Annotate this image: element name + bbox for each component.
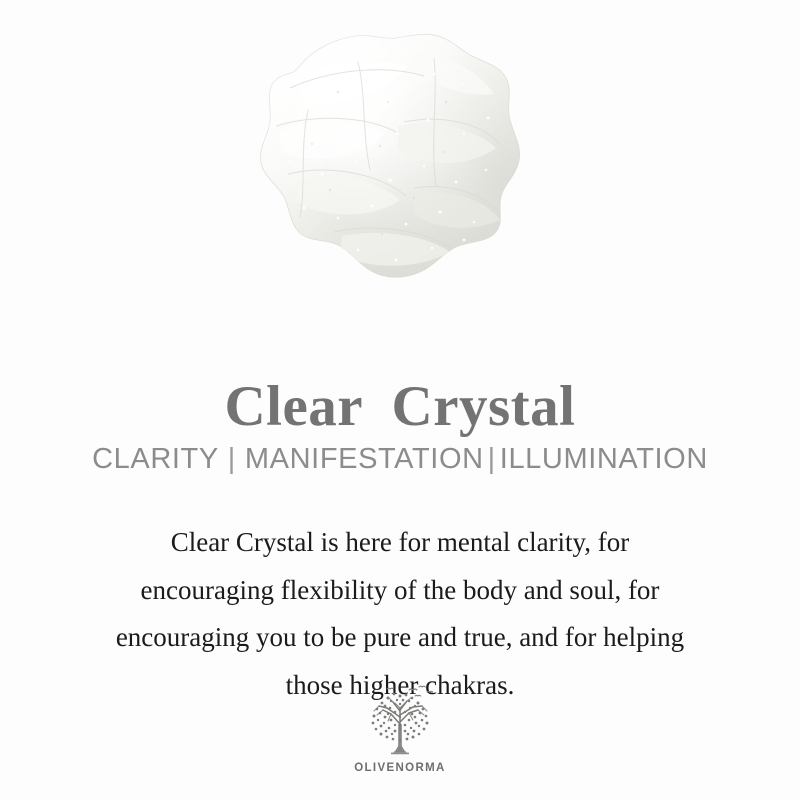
product-info-card: Clear Crystal CLARITY|MANIFESTATION|ILLU… bbox=[0, 0, 800, 800]
crystal-facets bbox=[238, 22, 538, 302]
keyword-separator-2: | bbox=[484, 443, 500, 475]
keyword-illumination: ILLUMINATION bbox=[500, 443, 708, 475]
description-line: encouraging you to be pure and true, and… bbox=[40, 614, 760, 662]
product-description: Clear Crystal is here for mental clarity… bbox=[40, 519, 760, 709]
keyword-clarity: CLARITY bbox=[92, 443, 219, 475]
keyword-manifestation: MANIFESTATION bbox=[245, 443, 484, 475]
description-line: Clear Crystal is here for mental clarity… bbox=[40, 519, 760, 567]
page-title: Clear Crystal bbox=[0, 374, 800, 440]
brand-logo: OLIVENORMA bbox=[0, 684, 800, 774]
keyword-subtitle: CLARITY|MANIFESTATION|ILLUMINATION bbox=[0, 440, 800, 478]
tree-of-life-icon bbox=[357, 684, 443, 760]
clear-crystal-image bbox=[238, 22, 538, 302]
brand-name: OLIVENORMA bbox=[354, 762, 445, 774]
hero-image-region bbox=[0, 0, 800, 320]
keyword-separator-1: | bbox=[219, 443, 245, 475]
description-line: encouraging flexibility of the body and … bbox=[40, 567, 760, 615]
